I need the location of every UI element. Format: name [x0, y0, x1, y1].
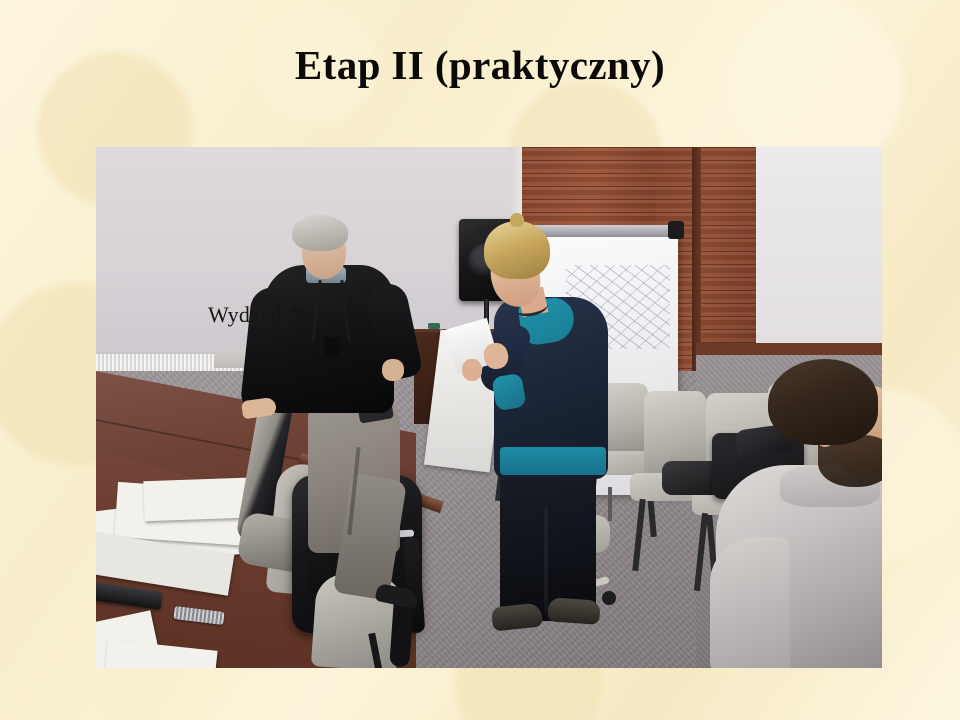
photo-image[interactable]: Wydział Architektury: [96, 147, 882, 668]
woman-shoe: [547, 597, 601, 625]
office-chair-caster: [602, 591, 616, 605]
standing-man-hand: [382, 359, 404, 381]
seated-man-hair: [768, 359, 878, 445]
flipchart-leg-right: [608, 487, 612, 521]
woman-trousers: [500, 465, 596, 621]
green-object-on-cabinet: [428, 323, 440, 329]
woman-hair: [484, 221, 550, 279]
standing-man-hair: [292, 215, 348, 251]
page-title: Etap II (praktyczny): [0, 44, 960, 87]
seated-man-shoulder: [710, 537, 790, 668]
photo-caption: Wydział Architektury: [208, 302, 402, 328]
flipchart-bar-cap: [668, 221, 684, 239]
slide-canvas: Etap II (praktyczny): [0, 0, 960, 720]
woman-hair-tuft: [510, 213, 524, 227]
woman-trouser-seam: [544, 507, 548, 611]
woman-sleeve-cuff: [491, 373, 526, 412]
lanyard-badge: [324, 337, 340, 357]
woman-hand: [462, 359, 482, 381]
woman-sweater-teal-hem: [500, 447, 606, 475]
